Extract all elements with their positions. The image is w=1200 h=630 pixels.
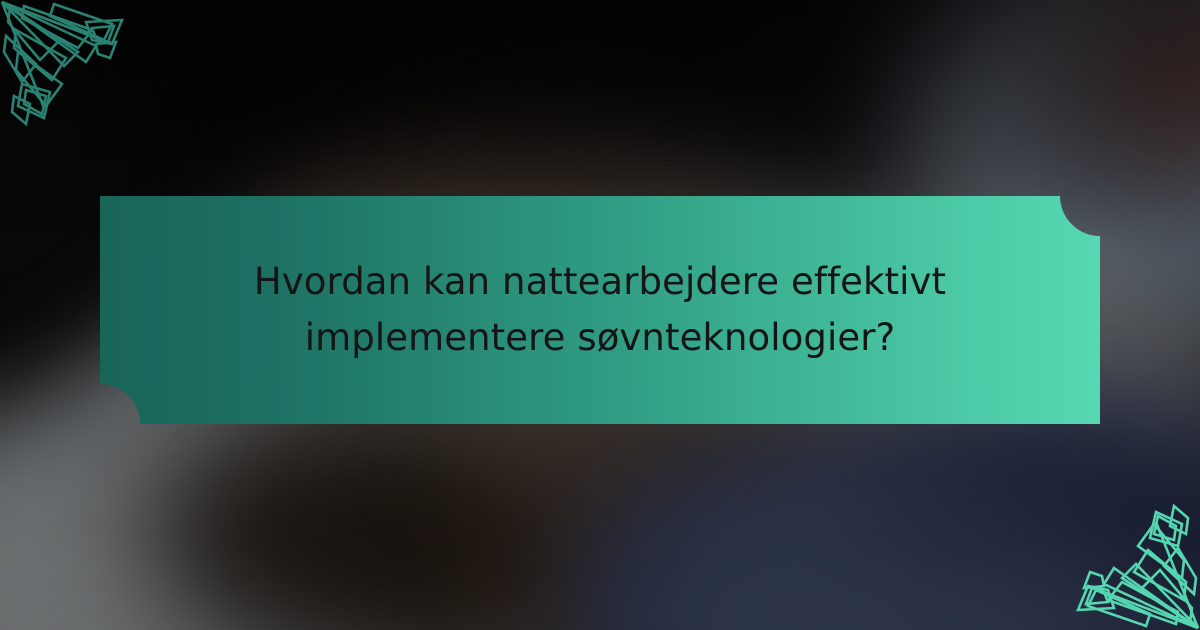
title-banner: Hvordan kan nattearbejdere effektivt imp…: [100, 196, 1100, 424]
title-line-2: implementere søvnteknologier?: [170, 310, 1030, 366]
page-title: Hvordan kan nattearbejdere effektivt imp…: [170, 254, 1030, 366]
title-line-1: Hvordan kan nattearbejdere effektivt: [170, 254, 1030, 310]
